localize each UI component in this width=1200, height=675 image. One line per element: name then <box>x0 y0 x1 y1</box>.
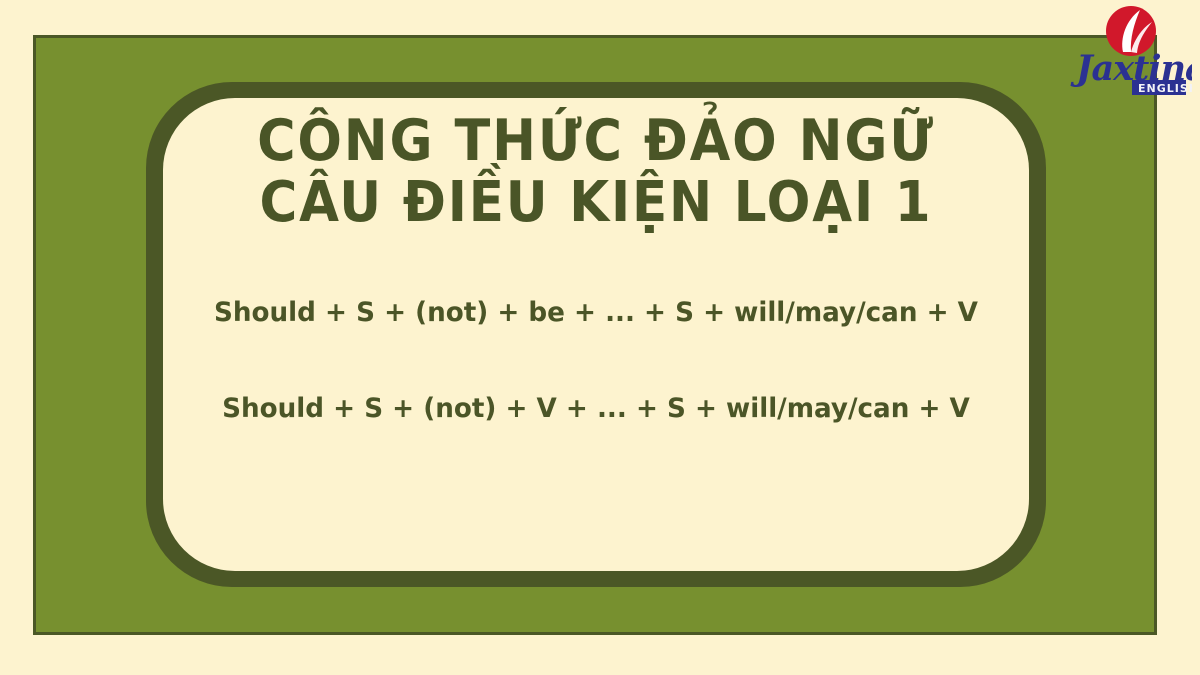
formula-be: Should + S + (not) + be + ... + S + will… <box>176 296 1016 330</box>
content-panel: CÔNG THỨC ĐẢO NGỮ CÂU ĐIỀU KIỆN LOẠI 1 S… <box>163 98 1029 571</box>
formula-verb: Should + S + (not) + V + ... + S + will/… <box>176 392 1016 426</box>
slide-canvas: CÔNG THỨC ĐẢO NGỮ CÂU ĐIỀU KIỆN LOẠI 1 S… <box>0 0 1200 675</box>
formula-list: Should + S + (not) + be + ... + S + will… <box>163 296 1029 426</box>
svg-text:ENGLISH: ENGLISH <box>1138 82 1192 95</box>
page-title: CÔNG THỨC ĐẢO NGỮ CÂU ĐIỀU KIỆN LOẠI 1 <box>163 110 1029 234</box>
title-line-1: CÔNG THỨC ĐẢO NGỮ <box>198 110 995 172</box>
jaxtina-logo: Jaxtina ENGLISH <box>1068 4 1192 98</box>
title-line-2: CÂU ĐIỀU KIỆN LOẠI 1 <box>198 172 995 234</box>
logo-tagline-badge: ENGLISH <box>1132 80 1192 95</box>
